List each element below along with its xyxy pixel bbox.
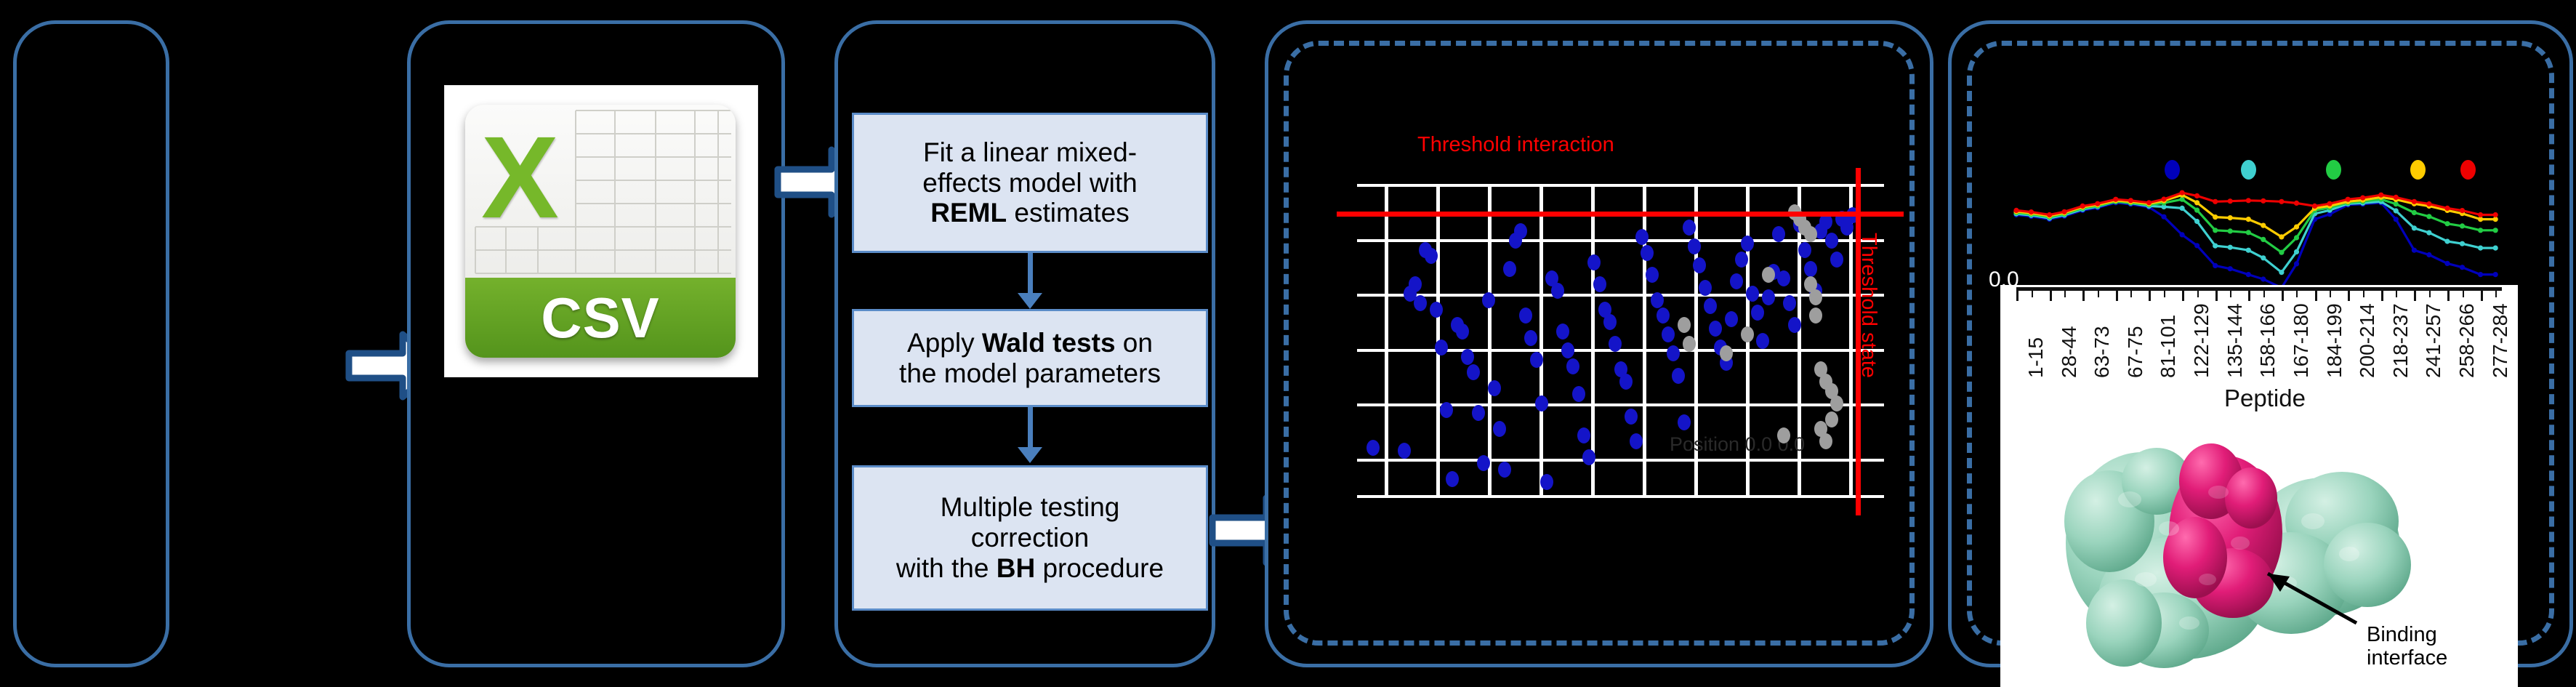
- bh-line-2: correction: [896, 523, 1164, 553]
- hdx-series-marker: [2394, 201, 2399, 206]
- hdx-series-marker: [2327, 201, 2333, 206]
- hdx-series-marker: [2213, 214, 2218, 220]
- hdx-series-marker: [2426, 201, 2431, 206]
- wald-line-1-post: on: [1116, 328, 1153, 358]
- hdx-x-axis-title: Peptide: [2224, 385, 2306, 412]
- hdx-series-marker: [2444, 261, 2450, 266]
- hdx-series-marker: [2394, 195, 2399, 200]
- hdx-series-marker: [2493, 228, 2498, 233]
- fit-model-line-2: effects model with: [922, 168, 1137, 198]
- hdx-x-tick-label: 67-75: [2124, 326, 2147, 378]
- hdx-series-marker: [2279, 270, 2284, 275]
- scatter-point: [1414, 295, 1427, 311]
- hdx-series-marker: [2194, 243, 2199, 248]
- hdx-series-marker: [2294, 261, 2299, 266]
- hdx-series-marker: [2095, 201, 2100, 206]
- hdx-series-marker: [2294, 225, 2299, 230]
- scatter-point: [1756, 333, 1769, 349]
- connector-wald-to-bh: [1028, 407, 1033, 451]
- hdx-series-marker: [2261, 237, 2266, 242]
- scatter-point: [1825, 411, 1838, 427]
- connector-wald-to-bh-head: [1018, 447, 1042, 463]
- hdx-series-marker: [2228, 245, 2233, 250]
- hdx-series-marker: [2360, 196, 2365, 201]
- hdx-series-marker: [2213, 263, 2218, 268]
- hdx-series-marker: [2194, 208, 2199, 213]
- scatter-point: [1446, 471, 1459, 487]
- scatter-point: [1561, 342, 1574, 358]
- scatter-point: [1762, 289, 1775, 305]
- scatter-point: [1741, 326, 1754, 342]
- scatter-point: [1804, 226, 1817, 242]
- scatter-point: [1704, 298, 1717, 314]
- hdx-series-marker: [2261, 198, 2266, 204]
- scatter-point: [1367, 440, 1380, 456]
- hdx-series-marker: [2444, 238, 2450, 244]
- scatter-point: [1551, 283, 1564, 299]
- hdx-series-marker: [2228, 198, 2233, 204]
- hdx-series-marker: [2180, 190, 2185, 196]
- bh-line-3-pre: with the: [896, 553, 997, 583]
- binding-interface-line-2: interface: [2367, 646, 2447, 670]
- connector-model-to-wald-head: [1018, 293, 1042, 309]
- hdx-uptake-chart: [2000, 182, 2509, 300]
- scatter-point: [1798, 242, 1811, 258]
- hdx-x-tick-label: 158-166: [2256, 303, 2279, 378]
- threshold-interaction-line: [1337, 212, 1904, 217]
- scatter-point: [1609, 336, 1622, 352]
- process-box-wald-tests: Apply Wald tests on the model parameters: [852, 309, 1208, 407]
- csv-icon-x-letter: X: [481, 119, 559, 236]
- scatter-point: [1472, 405, 1485, 421]
- scatter-point: [1593, 276, 1606, 292]
- hdx-series-marker: [2279, 234, 2284, 239]
- scatter-point: [1804, 261, 1817, 277]
- scatter-point: [1709, 321, 1722, 337]
- scatter-point: [1535, 395, 1548, 411]
- process-box-fit-model: Fit a linear mixed- effects model with R…: [852, 113, 1208, 253]
- hdx-series-marker: [2246, 248, 2251, 253]
- hdx-series-marker: [2294, 249, 2299, 254]
- scatter-point: [1493, 421, 1506, 437]
- hdx-series-marker: [2013, 208, 2018, 213]
- scatter-point: [1577, 427, 1590, 443]
- bh-line-1: Multiple testing: [896, 492, 1164, 523]
- scatter-point: [1519, 308, 1532, 324]
- scatter-point: [1572, 386, 1585, 402]
- hdx-series-marker: [2246, 198, 2251, 203]
- hdx-series-marker: [2180, 206, 2185, 211]
- hdx-series-marker: [2294, 235, 2299, 240]
- scatter-point: [1566, 358, 1579, 374]
- hdx-series-marker: [2213, 228, 2218, 233]
- hdx-x-tick-labels: 1-1528-4463-7367-7581-101122-129135-1441…: [2000, 285, 2518, 379]
- scatter-point: [1699, 280, 1712, 296]
- scatter-point: [1809, 289, 1822, 305]
- hdx-series-marker: [2412, 199, 2417, 204]
- hdx-series-marker: [2378, 193, 2383, 198]
- scatter-point: [1772, 226, 1785, 242]
- csv-icon-band: CSV: [465, 278, 736, 358]
- hdx-x-tick-label: 63-73: [2090, 326, 2114, 378]
- scatter-point: [1678, 317, 1691, 333]
- scatter-point: [1630, 433, 1643, 449]
- scatter-point: [1735, 252, 1748, 268]
- hdx-series-marker: [2246, 272, 2251, 277]
- scatter-point: [1651, 292, 1664, 308]
- scatter-point: [1524, 330, 1537, 346]
- hdx-series-marker: [2047, 212, 2052, 217]
- threshold-scatter-plot: Position 0.0 0.0: [1357, 184, 1884, 498]
- process-box-bh-correction: Multiple testing correction with the BH …: [852, 465, 1208, 611]
- hdx-series-marker: [2478, 272, 2483, 277]
- scatter-point: [1672, 368, 1685, 384]
- hdx-series-marker: [2412, 225, 2417, 230]
- hdx-series-marker: [2080, 204, 2085, 209]
- input-panel: [13, 20, 169, 667]
- connector-model-to-wald: [1028, 253, 1033, 297]
- hdx-series-marker: [2213, 244, 2218, 249]
- scatter-point: [1540, 474, 1553, 490]
- hdx-series-line: [2016, 193, 2495, 214]
- scatter-point: [1587, 254, 1601, 270]
- bh-line-3: with the BH procedure: [896, 553, 1164, 584]
- hdx-x-tick-label: 81-101: [2157, 315, 2180, 378]
- hdx-series-marker: [2460, 265, 2465, 270]
- scatter-point: [1783, 295, 1796, 311]
- hdx-series-marker: [2426, 252, 2431, 257]
- hdx-series-marker: [2294, 201, 2299, 206]
- scatter-point: [1762, 267, 1775, 283]
- scatter-point: [1440, 402, 1453, 418]
- scatter-point: [1730, 273, 1743, 289]
- scatter-point: [1582, 449, 1595, 465]
- scatter-point: [1788, 317, 1801, 333]
- hdx-series-marker: [2062, 209, 2067, 214]
- scatter-point: [1409, 276, 1422, 292]
- wald-line-1: Apply Wald tests on: [899, 328, 1161, 358]
- hdx-series-marker: [2246, 217, 2251, 222]
- scatter-point: [1830, 395, 1843, 411]
- bh-line-3-post: procedure: [1035, 553, 1164, 583]
- wald-keyword: Wald tests: [982, 328, 1116, 358]
- hdx-series-marker: [2228, 228, 2233, 233]
- scatter-point: [1746, 286, 1759, 302]
- hdx-x-tick-label: 277-284: [2489, 303, 2512, 378]
- threshold-state-label: Threshold state: [1856, 233, 1880, 378]
- legend-dot-4: [2460, 160, 2476, 180]
- hdx-x-tick-label: 1-15: [2024, 337, 2048, 378]
- scatter-point: [1830, 252, 1843, 268]
- hdx-series-marker: [2146, 200, 2152, 205]
- hdx-series-marker: [2460, 223, 2465, 228]
- scatter-point: [1641, 245, 1654, 261]
- hdx-series-marker: [2412, 248, 2417, 253]
- hdx-series-marker: [2228, 215, 2233, 220]
- scatter-point: [1725, 311, 1738, 327]
- hdx-series-marker: [2180, 232, 2185, 237]
- hdx-series-marker: [2346, 197, 2351, 202]
- hdx-series-marker: [2194, 219, 2199, 224]
- scatter-point: [1683, 220, 1696, 236]
- csv-icon-label: CSV: [541, 285, 659, 351]
- hdx-series-marker: [2493, 212, 2498, 217]
- fit-model-line-3: REML estimates: [922, 198, 1137, 228]
- hdx-x-tick-label: 241-257: [2422, 303, 2445, 378]
- scatter-point: [1646, 267, 1659, 283]
- scatter-point: [1467, 364, 1480, 380]
- scatter-point: [1498, 462, 1511, 478]
- hdx-series-marker: [2394, 217, 2399, 222]
- scatter-points-layer: [1357, 184, 1884, 498]
- scatter-point: [1503, 261, 1516, 277]
- scatter-point: [1425, 248, 1438, 264]
- hdx-series-marker: [2161, 196, 2166, 201]
- hdx-series-marker: [2444, 221, 2450, 226]
- workflow-diagram: X CSV Fit a linear mixed- effects model …: [0, 0, 2576, 687]
- hdx-series-marker: [2213, 199, 2218, 204]
- hdx-x-tick-label: 218-237: [2389, 303, 2412, 378]
- csv-file-icon-background: X CSV: [445, 86, 757, 377]
- scatter-point: [1825, 233, 1838, 249]
- threshold-interaction-label: Threshold interaction: [1417, 133, 1614, 157]
- scatter-point: [1482, 292, 1495, 308]
- hdx-series-marker: [2444, 206, 2450, 211]
- hdx-x-tick-label: 28-44: [2058, 326, 2081, 378]
- hdx-x-tick-label: 200-214: [2356, 303, 2379, 378]
- scatter-point: [1720, 345, 1733, 361]
- hdx-series-marker: [2246, 230, 2251, 235]
- scatter-point: [1456, 324, 1469, 340]
- hdx-series-marker: [2312, 204, 2317, 209]
- scatter-point: [1625, 409, 1638, 425]
- scatter-point: [1809, 308, 1822, 324]
- scatter-point: [1461, 349, 1474, 365]
- hdx-series-marker: [2194, 193, 2199, 198]
- scatter-point: [1603, 314, 1617, 330]
- legend-dot-3: [2410, 160, 2426, 180]
- hdx-x-tick-label: 122-129: [2190, 303, 2213, 378]
- hdx-x-tick-label: 135-144: [2223, 303, 2247, 378]
- hdx-series-marker: [2478, 246, 2483, 251]
- hdx-series-marker: [2128, 198, 2133, 203]
- scatter-point: [1556, 324, 1569, 340]
- binding-interface-annotation: Binding interface: [2367, 623, 2447, 670]
- legend-dot-1: [2241, 160, 2256, 180]
- hdx-series-marker: [2261, 276, 2266, 281]
- hdx-series-marker: [2261, 223, 2266, 228]
- scatter-point: [1777, 270, 1790, 286]
- scatter-point: [1619, 374, 1633, 390]
- hdx-series-marker: [2279, 199, 2284, 204]
- hdx-series-marker: [2478, 228, 2483, 233]
- scatter-point: [1741, 236, 1754, 252]
- scatter-point: [1678, 414, 1691, 430]
- scatter-point: [1819, 433, 1832, 449]
- scatter-point: [1657, 308, 1670, 324]
- scatter-point: [1662, 326, 1675, 342]
- scatter-point: [1477, 455, 1490, 471]
- scatter-point: [1430, 302, 1443, 318]
- wald-line-2: the model parameters: [899, 358, 1161, 389]
- scatter-point: [1488, 380, 1501, 396]
- hdx-series-marker: [2493, 246, 2498, 251]
- scatter-point: [1398, 443, 1411, 459]
- scatter-point: [1667, 345, 1680, 361]
- scatter-point: [1635, 229, 1649, 245]
- hdx-series-marker: [2460, 241, 2465, 246]
- scatter-point: [1514, 223, 1527, 239]
- scatter-point: [1435, 340, 1448, 355]
- hdx-series-marker: [2261, 255, 2266, 260]
- hdx-series-marker: [2228, 266, 2233, 271]
- hdx-series-marker: [2412, 210, 2417, 215]
- wald-line-1-pre: Apply: [907, 328, 982, 358]
- hdx-series-marker: [2029, 209, 2034, 214]
- hdx-x-tick-label: 258-266: [2455, 303, 2479, 378]
- scatter-point: [1693, 257, 1706, 273]
- hdx-series-marker: [2478, 212, 2483, 217]
- hdx-series-marker: [2279, 250, 2284, 255]
- legend-dot-2: [2326, 160, 2341, 180]
- hdx-series-marker: [2394, 208, 2399, 213]
- hdx-x-tick-label: 184-199: [2323, 303, 2346, 378]
- scatter-point: [1688, 238, 1701, 254]
- hdx-series-marker: [2460, 208, 2465, 213]
- scatter-point: [1530, 352, 1543, 368]
- hdx-series-marker: [2493, 272, 2498, 277]
- hdx-x-tick-label: 167-180: [2290, 303, 2313, 378]
- legend-dot-0: [2165, 160, 2180, 180]
- fit-model-line-1: Fit a linear mixed-: [922, 137, 1137, 168]
- reml-keyword: REML: [930, 198, 1007, 228]
- hdx-series-marker: [2426, 230, 2431, 236]
- hdx-series-marker: [2161, 214, 2166, 220]
- hdx-series-marker: [2113, 197, 2118, 202]
- fit-model-line-3-post: estimates: [1007, 198, 1130, 228]
- scatter-point: [1751, 305, 1764, 321]
- hdx-structure-plate: 1-1528-4463-7367-7581-101122-129135-1441…: [2000, 285, 2518, 687]
- csv-file-icon: X CSV: [465, 105, 736, 358]
- binding-interface-line-1: Binding: [2367, 623, 2447, 646]
- bh-keyword: BH: [997, 553, 1035, 583]
- scatter-point: [1683, 336, 1696, 352]
- scatter-point: [1777, 427, 1790, 443]
- hdx-series-marker: [2194, 200, 2199, 205]
- hdx-series-marker: [2426, 214, 2431, 219]
